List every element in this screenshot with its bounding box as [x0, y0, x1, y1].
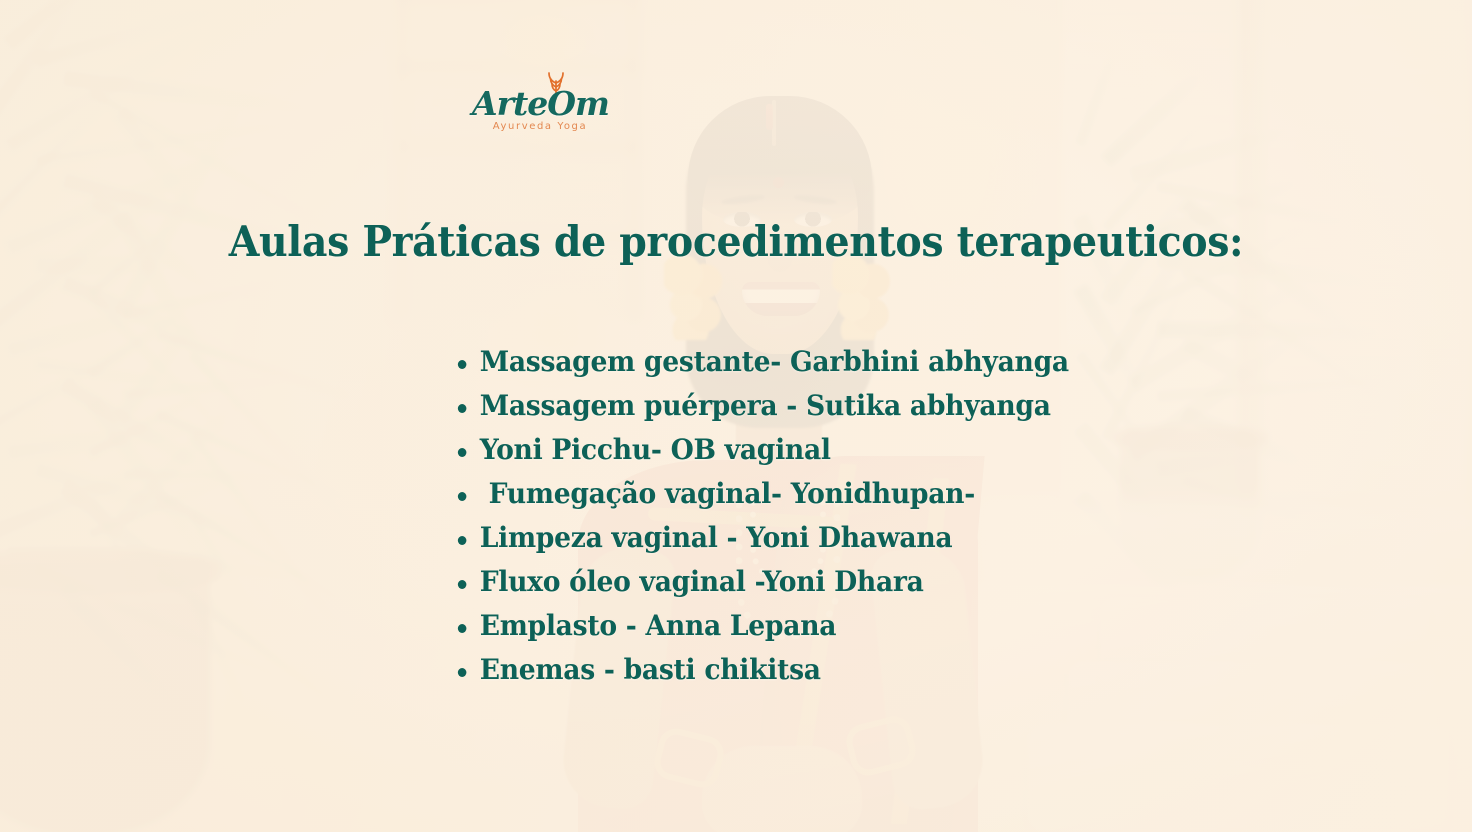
list-item: Fumegação vaginal- Yonidhupan- — [455, 477, 1310, 511]
slide-canvas: ArteOm Ayurveda Yoga Aulas Práticas de p… — [0, 0, 1472, 832]
slide-content: ArteOm Ayurveda Yoga Aulas Práticas de p… — [0, 0, 1472, 832]
list-item: Fluxo óleo vaginal -Yoni Dhara — [455, 565, 1310, 599]
list-item: Yoni Picchu- OB vaginal — [455, 433, 1310, 467]
list-item: Massagem gestante- Garbhini abhyanga — [455, 345, 1310, 379]
list-item: Emplasto - Anna Lepana — [455, 609, 1310, 643]
list-item: Limpeza vaginal - Yoni Dhawana — [455, 521, 1310, 555]
procedures-list: Massagem gestante- Garbhini abhyangaMass… — [455, 345, 1355, 697]
page-title: Aulas Práticas de procedimentos terapeut… — [44, 216, 1428, 268]
list-item: Enemas - basti chikitsa — [455, 653, 1310, 687]
brand-tagline: Ayurveda Yoga — [472, 121, 608, 132]
brand-logo[interactable]: ArteOm Ayurveda Yoga — [472, 72, 608, 142]
brand-name: ArteOm — [472, 86, 608, 122]
list-item: Massagem puérpera - Sutika abhyanga — [455, 389, 1310, 423]
